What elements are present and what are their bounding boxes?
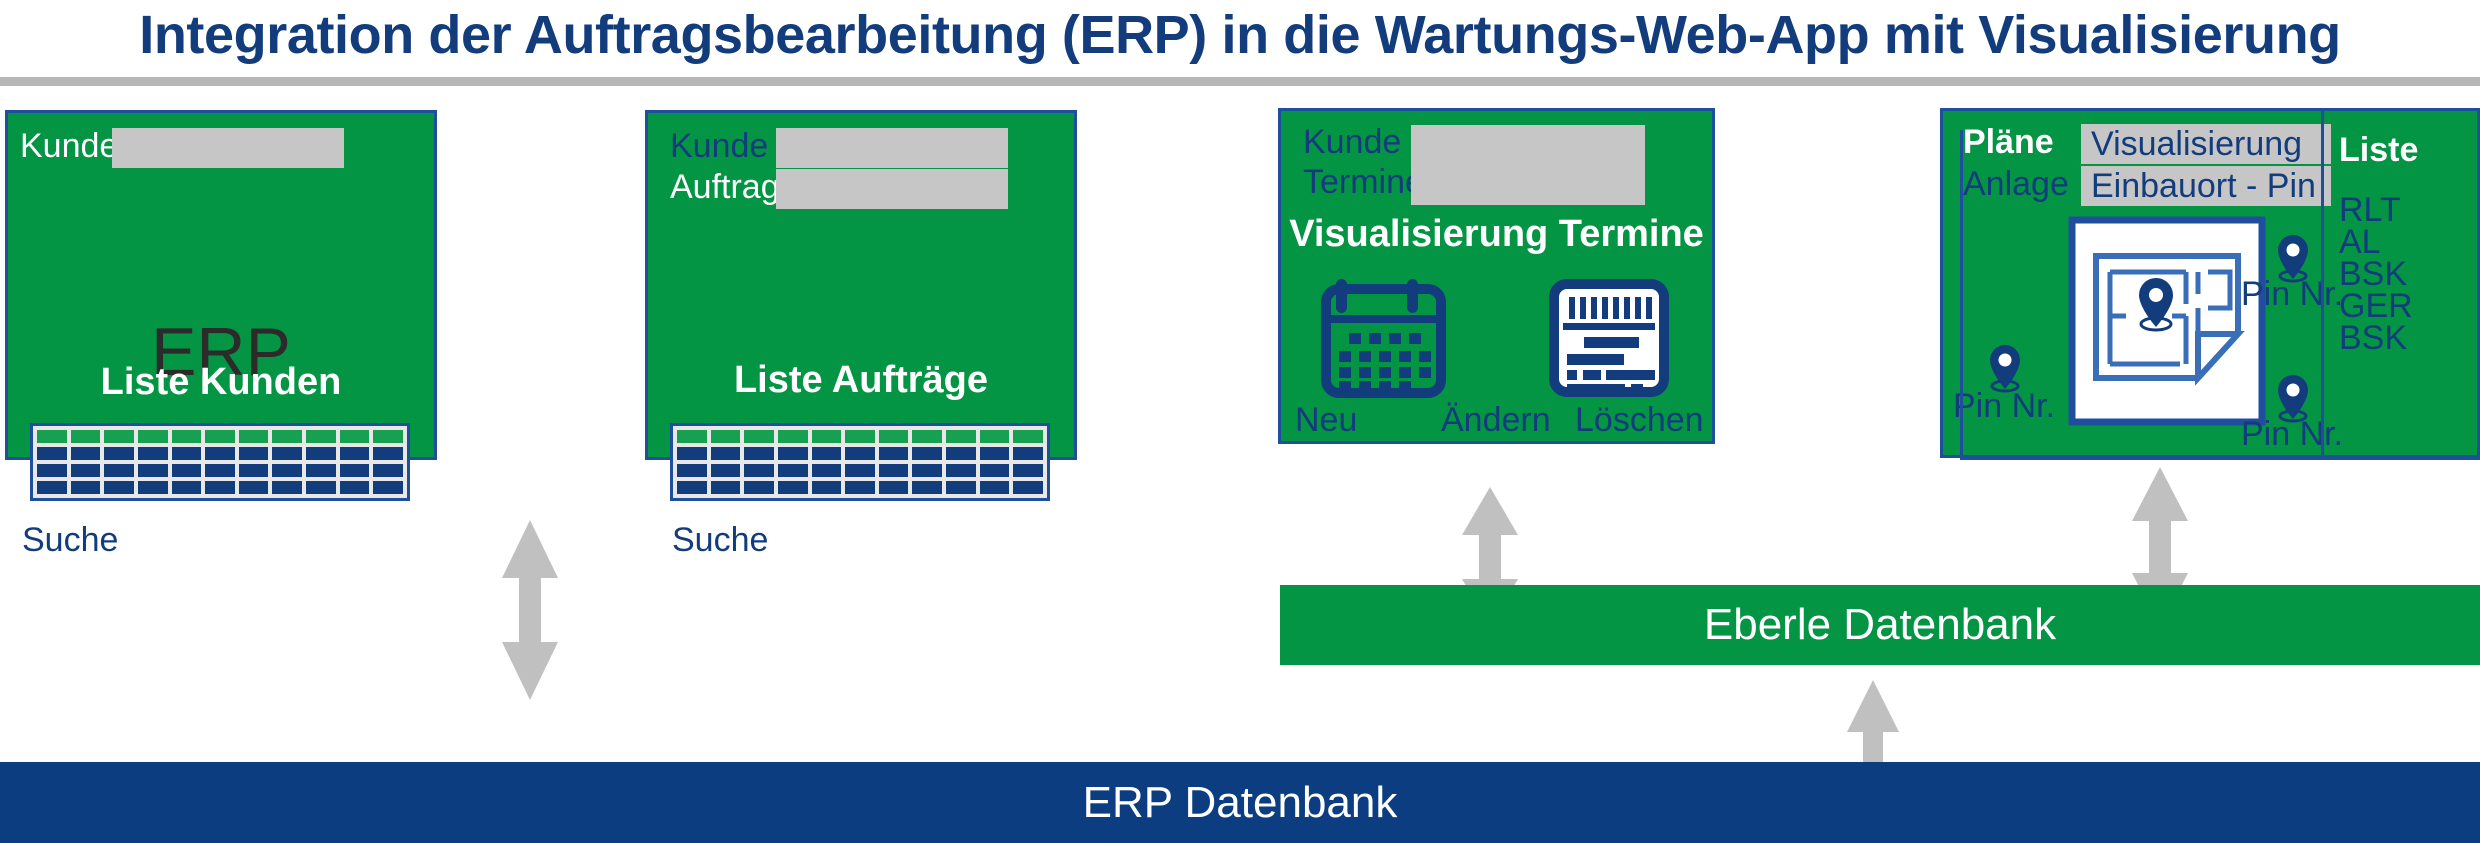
search-link[interactable]: Suche [22,523,118,557]
grid-cell[interactable] [306,481,336,494]
eberle-database-label: Eberle Datenbank [1704,600,2056,650]
grid-cell[interactable] [172,481,202,494]
field-input-kunde[interactable] [1411,125,1645,165]
grid-cell[interactable] [677,464,707,477]
field-label-kunde: Kunde [670,129,768,163]
grid-header-cell[interactable] [104,430,134,443]
page-title: Integration der Auftragsbearbeitung (ERP… [0,4,2480,66]
grid-cell[interactable] [711,481,741,494]
grid-cell[interactable] [340,447,370,460]
grid-cell[interactable] [239,464,269,477]
grid-cell[interactable] [272,447,302,460]
grid-header-cell[interactable] [138,430,168,443]
grid-cell[interactable] [879,481,909,494]
grid-cell[interactable] [306,464,336,477]
grid-cell[interactable] [879,447,909,460]
grid-cell[interactable] [879,464,909,477]
grid-header-cell[interactable] [980,430,1010,443]
grid-cell[interactable] [205,481,235,494]
field-input-auftrag[interactable] [776,169,1008,209]
grid-cell[interactable] [912,447,942,460]
field-input-kunde[interactable] [776,128,1008,168]
button-loeschen[interactable]: Löschen [1575,403,1704,437]
grid-cell[interactable] [37,481,67,494]
grid-cell[interactable] [306,447,336,460]
grid-cell[interactable] [946,464,976,477]
grid-header-cell[interactable] [744,430,774,443]
grid-header-cell[interactable] [306,430,336,443]
grid-header-cell[interactable] [879,430,909,443]
grid-header-cell[interactable] [778,430,808,443]
grid-header-cell[interactable] [340,430,370,443]
field-label-auftrag: Auftrag [670,170,780,204]
grid-header-cell[interactable] [912,430,942,443]
grid-cell[interactable] [677,481,707,494]
grid-cell[interactable] [711,464,741,477]
grid-header-cell[interactable] [1013,430,1043,443]
grid-cell[interactable] [138,447,168,460]
grid-cell[interactable] [845,481,875,494]
grid-cell[interactable] [812,464,842,477]
grid-cell[interactable] [340,481,370,494]
grid-cell[interactable] [138,464,168,477]
panel-plaene-connector [1960,130,2480,460]
grid-header-cell[interactable] [373,430,403,443]
data-grid[interactable] [670,423,1050,501]
grid-cell[interactable] [1013,447,1043,460]
grid-header-cell[interactable] [946,430,976,443]
grid-cell[interactable] [37,464,67,477]
field-label-kunde: Kunde [1303,125,1401,159]
grid-cell[interactable] [373,447,403,460]
eberle-database-bar: Eberle Datenbank [1280,585,2480,665]
search-link[interactable]: Suche [672,523,768,557]
grid-cell[interactable] [205,447,235,460]
button-neu[interactable]: Neu [1295,403,1357,437]
grid-cell[interactable] [104,447,134,460]
grid-cell[interactable] [239,447,269,460]
grid-header-cell[interactable] [812,430,842,443]
grid-cell[interactable] [172,447,202,460]
grid-cell[interactable] [677,447,707,460]
grid-cell[interactable] [71,447,101,460]
grid-cell[interactable] [812,447,842,460]
grid-cell[interactable] [373,464,403,477]
erp-database-label: ERP Datenbank [1083,778,1398,828]
grid-cell[interactable] [1013,464,1043,477]
field-label-kunde: Kunde [20,129,118,163]
document-list-icon[interactable] [1549,279,1669,402]
panel-erp-auftraege[interactable]: Kunde Auftrag Liste Aufträge Suche [645,110,1077,460]
grid-cell[interactable] [138,481,168,494]
grid-header-cell[interactable] [272,430,302,443]
panel-termine[interactable]: Kunde Termine Visualisierung Termine [1278,108,1715,444]
grid-cell[interactable] [980,447,1010,460]
grid-cell[interactable] [812,481,842,494]
grid-cell[interactable] [912,464,942,477]
grid-cell[interactable] [912,481,942,494]
grid-cell[interactable] [778,447,808,460]
field-input-kunde[interactable] [112,128,344,168]
grid-cell[interactable] [272,464,302,477]
title-divider [0,77,2480,86]
panel-heading: Liste Aufträge [648,361,1074,399]
grid-header-cell[interactable] [71,430,101,443]
field-label-termine: Termine [1303,165,1424,199]
field-input-termine[interactable] [1411,165,1645,205]
grid-header-cell[interactable] [711,430,741,443]
grid-cell[interactable] [71,464,101,477]
grid-cell[interactable] [778,481,808,494]
grid-cell[interactable] [744,481,774,494]
grid-cell[interactable] [744,464,774,477]
arrow-kunden-to-erp [500,520,560,700]
grid-cell[interactable] [239,481,269,494]
grid-cell[interactable] [172,464,202,477]
panel-heading: Liste Kunden [8,363,434,401]
grid-cell[interactable] [711,447,741,460]
panel-heading: Visualisierung Termine [1281,215,1712,253]
grid-cell[interactable] [845,464,875,477]
grid-header-cell[interactable] [677,430,707,443]
grid-cell[interactable] [946,481,976,494]
grid-cell[interactable] [104,481,134,494]
grid-cell[interactable] [980,481,1010,494]
grid-cell[interactable] [104,464,134,477]
button-aendern[interactable]: Ändern [1441,403,1551,437]
grid-header-cell[interactable] [845,430,875,443]
grid-cell[interactable] [37,447,67,460]
grid-cell[interactable] [71,481,101,494]
grid-cell[interactable] [845,447,875,460]
data-grid[interactable] [30,423,410,501]
grid-header-cell[interactable] [37,430,67,443]
grid-cell[interactable] [1013,481,1043,494]
grid-cell[interactable] [778,464,808,477]
grid-cell[interactable] [340,464,370,477]
grid-header-cell[interactable] [239,430,269,443]
erp-database-bar: ERP Datenbank [0,762,2480,843]
grid-header-cell[interactable] [205,430,235,443]
grid-header-cell[interactable] [172,430,202,443]
grid-cell[interactable] [980,464,1010,477]
grid-cell[interactable] [272,481,302,494]
grid-cell[interactable] [373,481,403,494]
grid-cell[interactable] [946,447,976,460]
grid-cell[interactable] [744,447,774,460]
calendar-icon[interactable] [1321,271,1451,406]
panel-erp-kunden[interactable]: Kunde ERP Liste Kunden Suche [5,110,437,460]
grid-cell[interactable] [205,464,235,477]
